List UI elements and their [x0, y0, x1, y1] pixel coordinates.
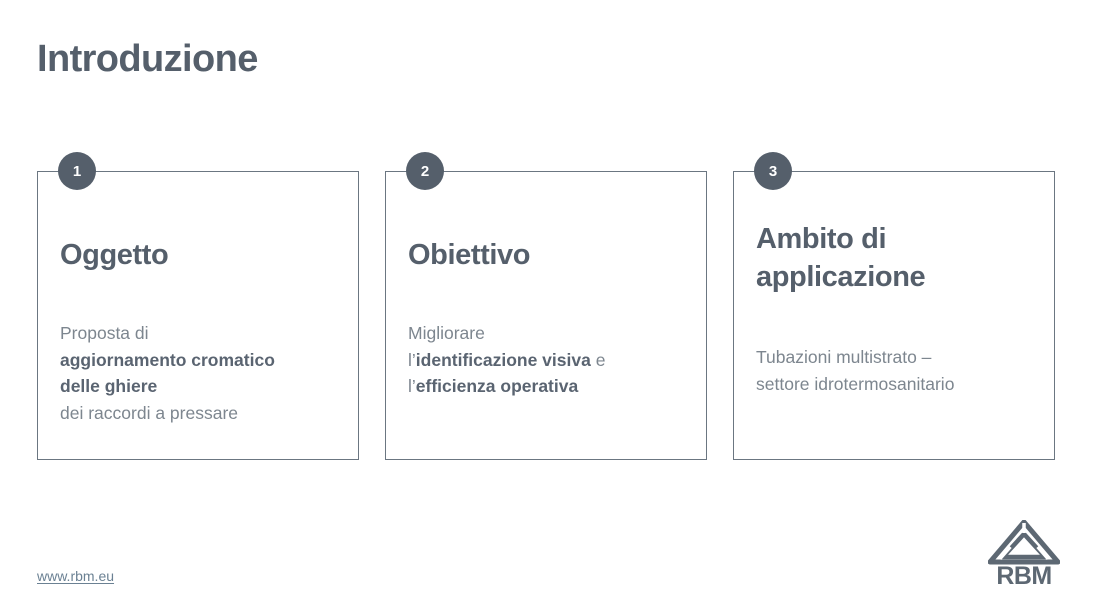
footer-website-link[interactable]: www.rbm.eu: [37, 568, 114, 584]
card-body-2: Obiettivo Migliorarel’identificazione vi…: [408, 172, 692, 459]
card-text-3: Tubazioni multistrato –settore idrotermo…: [756, 344, 1040, 397]
rbm-logo: RBM: [988, 520, 1060, 592]
slide-introduzione: Introduzione 1 Oggetto Proposta diaggior…: [0, 0, 1093, 615]
rbm-triangle-logo-icon: [988, 520, 1060, 565]
card-text-2: Migliorarel’identificazione visiva el’ef…: [408, 320, 692, 400]
page-title: Introduzione: [37, 38, 258, 82]
card-body-3: Ambito di applicazione Tubazioni multist…: [756, 172, 1040, 459]
card-body-1: Oggetto Proposta diaggiornamento cromati…: [60, 172, 344, 459]
card-heading-3: Ambito di applicazione: [756, 220, 1040, 297]
cards-row: 1 Oggetto Proposta diaggiornamento croma…: [37, 171, 1055, 460]
card-oggetto: 1 Oggetto Proposta diaggiornamento croma…: [37, 171, 359, 460]
card-heading-2: Obiettivo: [408, 236, 692, 274]
card-obiettivo: 2 Obiettivo Migliorarel’identificazione …: [385, 171, 707, 460]
card-heading-1: Oggetto: [60, 236, 344, 274]
card-text-1: Proposta diaggiornamento cromaticodelle …: [60, 320, 344, 426]
card-ambito-di-applicazione: 3 Ambito di applicazione Tubazioni multi…: [733, 171, 1055, 460]
rbm-wordmark: RBM: [988, 564, 1060, 589]
